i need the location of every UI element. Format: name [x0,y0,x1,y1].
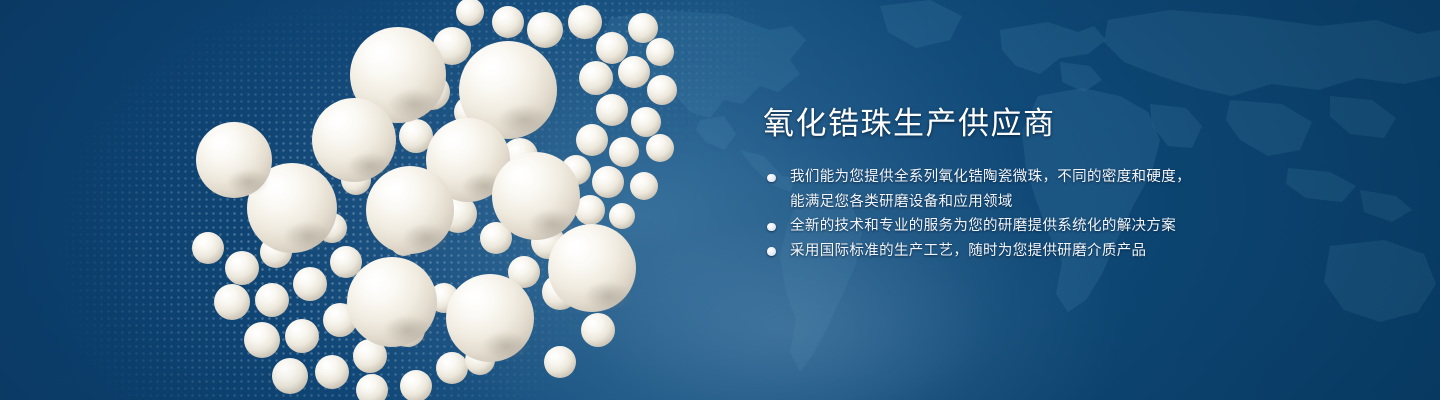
bullet-text-line1: 采用国际标准的生产工艺，随时为您提供研磨介质产品 [790,243,1146,259]
banner-bullet-list: 我们能为您提供全系列氧化锆陶瓷微珠，不同的密度和硬度， 能满足您各类研磨设备和应… [763,165,1233,263]
bullet-text-line2: 能满足您各类研磨设备和应用领域 [790,190,1233,215]
hero-banner: 氧化锆珠生产供应商 我们能为您提供全系列氧化锆陶瓷微珠，不同的密度和硬度， 能满… [0,0,1440,400]
bullet-item: 采用国际标准的生产工艺，随时为您提供研磨介质产品 [763,239,1233,264]
banner-copy: 氧化锆珠生产供应商 我们能为您提供全系列氧化锆陶瓷微珠，不同的密度和硬度， 能满… [763,104,1233,263]
bullet-text-line1: 我们能为您提供全系列氧化锆陶瓷微珠，不同的密度和硬度， [790,169,1191,185]
bullet-dot-icon [767,247,776,256]
bullet-dot-icon [767,223,776,232]
banner-title: 氧化锆珠生产供应商 [763,104,1233,144]
bullet-text-line1: 全新的技术和专业的服务为您的研磨提供系统化的解决方案 [790,218,1176,234]
bullet-dot-icon [767,174,776,183]
bullet-item: 全新的技术和专业的服务为您的研磨提供系统化的解决方案 [763,214,1233,239]
bullet-item: 我们能为您提供全系列氧化锆陶瓷微珠，不同的密度和硬度， 能满足您各类研磨设备和应… [763,165,1233,214]
